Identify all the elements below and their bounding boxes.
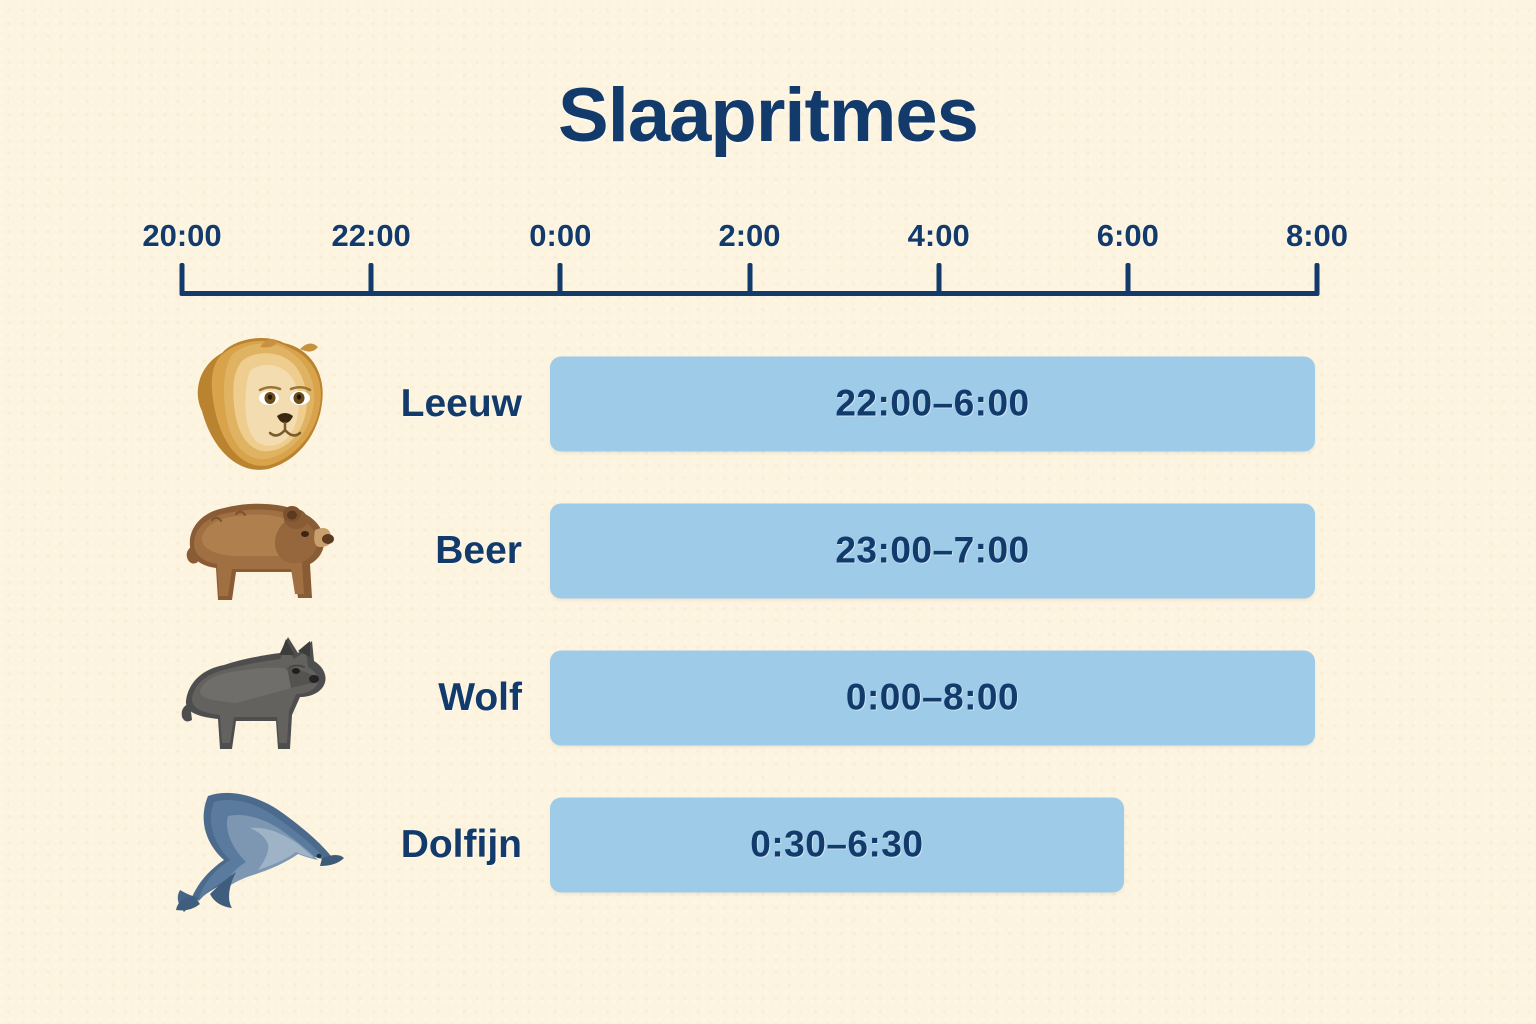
- axis-tick-label: 4:00: [908, 218, 970, 254]
- sleep-row: Wolf0:00–8:00: [0, 624, 1536, 771]
- axis-tick-label: 22:00: [332, 218, 411, 254]
- sleep-bar[interactable]: 22:00–6:00: [550, 356, 1315, 451]
- sleep-bar[interactable]: 0:00–8:00: [550, 650, 1315, 745]
- sleep-bar[interactable]: 0:30–6:30: [550, 797, 1124, 892]
- sleep-rows: Leeuw22:00–6:00 Beer23:00–7:00 Wolf0:00–…: [0, 330, 1536, 918]
- sleep-bar-label: 23:00–7:00: [835, 530, 1029, 572]
- axis-tick-label: 8:00: [1286, 218, 1348, 254]
- axis-tick: [1315, 263, 1320, 296]
- sleep-bar-label: 0:00–8:00: [846, 677, 1019, 719]
- sleep-bar-label: 22:00–6:00: [835, 383, 1029, 425]
- axis-tick-label: 0:00: [529, 218, 591, 254]
- sleep-row: Beer23:00–7:00: [0, 477, 1536, 624]
- wolf-icon: [172, 623, 347, 773]
- animal-label: Beer: [350, 529, 522, 573]
- axis-tick: [936, 263, 941, 296]
- sleep-bar[interactable]: 23:00–7:00: [550, 503, 1315, 598]
- axis-tick: [747, 263, 752, 296]
- sleep-bar-label: 0:30–6:30: [750, 824, 923, 866]
- axis-tick-label: 2:00: [718, 218, 780, 254]
- axis-tick: [1125, 263, 1130, 296]
- animal-label: Wolf: [350, 676, 522, 720]
- sleep-row: Leeuw22:00–6:00: [0, 330, 1536, 477]
- axis-tick-label: 20:00: [142, 218, 221, 254]
- sleep-row: Dolfijn0:30–6:30: [0, 771, 1536, 918]
- page-title: Slaapritmes: [0, 72, 1536, 159]
- axis-tick-label: 6:00: [1097, 218, 1159, 254]
- axis-tick: [369, 263, 374, 296]
- dolphin-icon: [172, 770, 347, 920]
- lion-icon: [172, 329, 347, 479]
- time-axis: 20:0022:000:002:004:006:008:00: [182, 214, 1317, 306]
- animal-label: Dolfijn: [350, 823, 522, 867]
- bear-icon: [172, 476, 347, 626]
- animal-label: Leeuw: [350, 382, 522, 426]
- axis-tick: [558, 263, 563, 296]
- axis-tick: [180, 263, 185, 296]
